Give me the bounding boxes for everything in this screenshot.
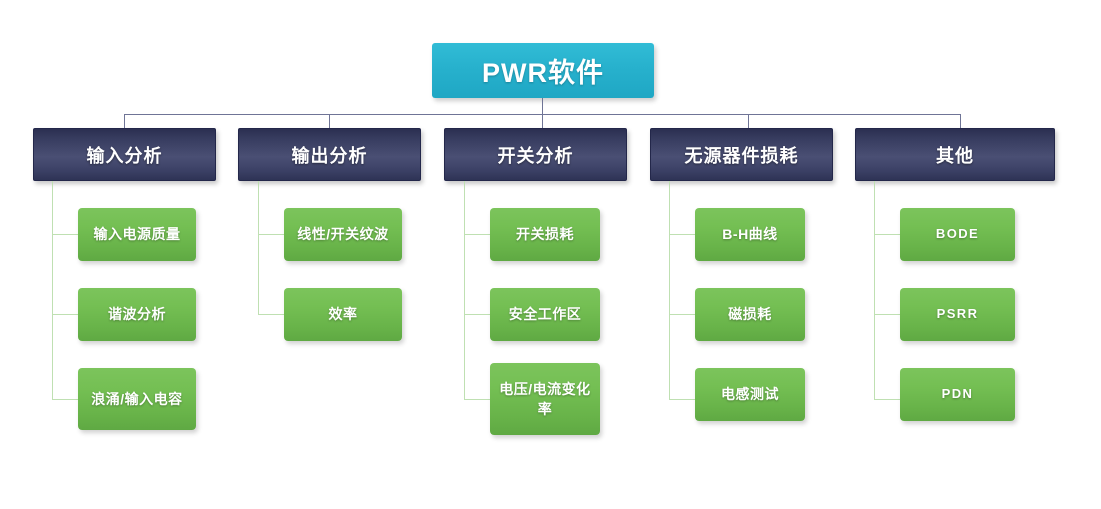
branch-node-label: 输入分析: [87, 142, 163, 168]
leaf-connector-spine-4: [669, 181, 670, 400]
leaf-node-bh-curve[interactable]: B-H曲线: [695, 208, 805, 261]
leaf-connector-stub-3-1: [464, 234, 490, 235]
leaf-connector-spine-5: [874, 181, 875, 400]
leaf-node-label: PSRR: [937, 305, 979, 324]
leaf-node-inductance-test[interactable]: 电感测试: [695, 368, 805, 421]
leaf-node-label: BODE: [936, 225, 979, 244]
connector-root-drop: [542, 98, 543, 115]
leaf-node-label: 输入电源质量: [94, 224, 181, 244]
leaf-connector-stub-4-1: [669, 234, 695, 235]
leaf-connector-stub-2-2: [258, 314, 284, 315]
leaf-node-label: 谐波分析: [108, 304, 166, 324]
leaf-node-label: 安全工作区: [509, 304, 582, 324]
branch-node-other[interactable]: 其他: [855, 128, 1055, 181]
connector-drop-branch-2: [329, 114, 330, 128]
branch-node-label: 输出分析: [292, 142, 368, 168]
leaf-connector-spine-1: [52, 181, 53, 400]
connector-drop-branch-4: [748, 114, 749, 128]
leaf-node-magnetic-loss[interactable]: 磁损耗: [695, 288, 805, 341]
leaf-node-label: 浪涌/输入电容: [91, 389, 182, 409]
root-node-pwr-software[interactable]: PWR软件: [432, 43, 654, 98]
leaf-connector-stub-5-3: [874, 399, 900, 400]
leaf-connector-stub-2-1: [258, 234, 284, 235]
leaf-node-pdn[interactable]: PDN: [900, 368, 1015, 421]
leaf-node-harmonic-analysis[interactable]: 谐波分析: [78, 288, 196, 341]
leaf-connector-stub-5-1: [874, 234, 900, 235]
leaf-node-bode[interactable]: BODE: [900, 208, 1015, 261]
branch-node-output-analysis[interactable]: 输出分析: [238, 128, 421, 181]
leaf-node-safe-operating-area[interactable]: 安全工作区: [490, 288, 600, 341]
branch-node-label: 开关分析: [498, 142, 574, 168]
leaf-node-label: 电感测试: [721, 384, 779, 404]
leaf-node-label: 磁损耗: [728, 304, 772, 324]
leaf-connector-stub-1-1: [52, 234, 78, 235]
connector-drop-branch-3: [542, 114, 543, 128]
leaf-node-label: 电压/电流变化率: [496, 379, 594, 420]
branch-node-label: 无源器件损耗: [685, 142, 799, 168]
branch-node-input-analysis[interactable]: 输入分析: [33, 128, 216, 181]
leaf-node-input-power-quality[interactable]: 输入电源质量: [78, 208, 196, 261]
leaf-node-label: 开关损耗: [516, 224, 574, 244]
leaf-connector-stub-4-2: [669, 314, 695, 315]
leaf-node-label: 效率: [329, 304, 358, 324]
leaf-node-psrr[interactable]: PSRR: [900, 288, 1015, 341]
connector-drop-branch-5: [960, 114, 961, 128]
leaf-connector-stub-1-2: [52, 314, 78, 315]
leaf-node-linear-switching-ripple[interactable]: 线性/开关纹波: [284, 208, 402, 261]
branch-node-switching-analysis[interactable]: 开关分析: [444, 128, 627, 181]
leaf-node-label: B-H曲线: [722, 224, 777, 244]
branch-node-passive-component-loss[interactable]: 无源器件损耗: [650, 128, 833, 181]
leaf-node-inrush-input-capacitance[interactable]: 浪涌/输入电容: [78, 368, 196, 430]
leaf-node-voltage-current-slew-rate[interactable]: 电压/电流变化率: [490, 363, 600, 435]
root-node-label: PWR软件: [482, 51, 604, 90]
branch-node-label: 其他: [936, 142, 974, 168]
leaf-connector-spine-3: [464, 181, 465, 400]
leaf-connector-spine-2: [258, 181, 259, 315]
connector-drop-branch-1: [124, 114, 125, 128]
leaf-connector-stub-3-3: [464, 399, 490, 400]
leaf-node-label: PDN: [942, 385, 974, 404]
leaf-connector-stub-5-2: [874, 314, 900, 315]
leaf-connector-stub-3-2: [464, 314, 490, 315]
leaf-connector-stub-4-3: [669, 399, 695, 400]
leaf-node-switching-loss[interactable]: 开关损耗: [490, 208, 600, 261]
leaf-connector-stub-1-3: [52, 399, 78, 400]
leaf-node-efficiency[interactable]: 效率: [284, 288, 402, 341]
org-chart-canvas: PWR软件 输入分析 输出分析 开关分析 无源器件损耗 其他 输入电源质量 谐波…: [0, 0, 1101, 509]
leaf-node-label: 线性/开关纹波: [297, 224, 388, 244]
